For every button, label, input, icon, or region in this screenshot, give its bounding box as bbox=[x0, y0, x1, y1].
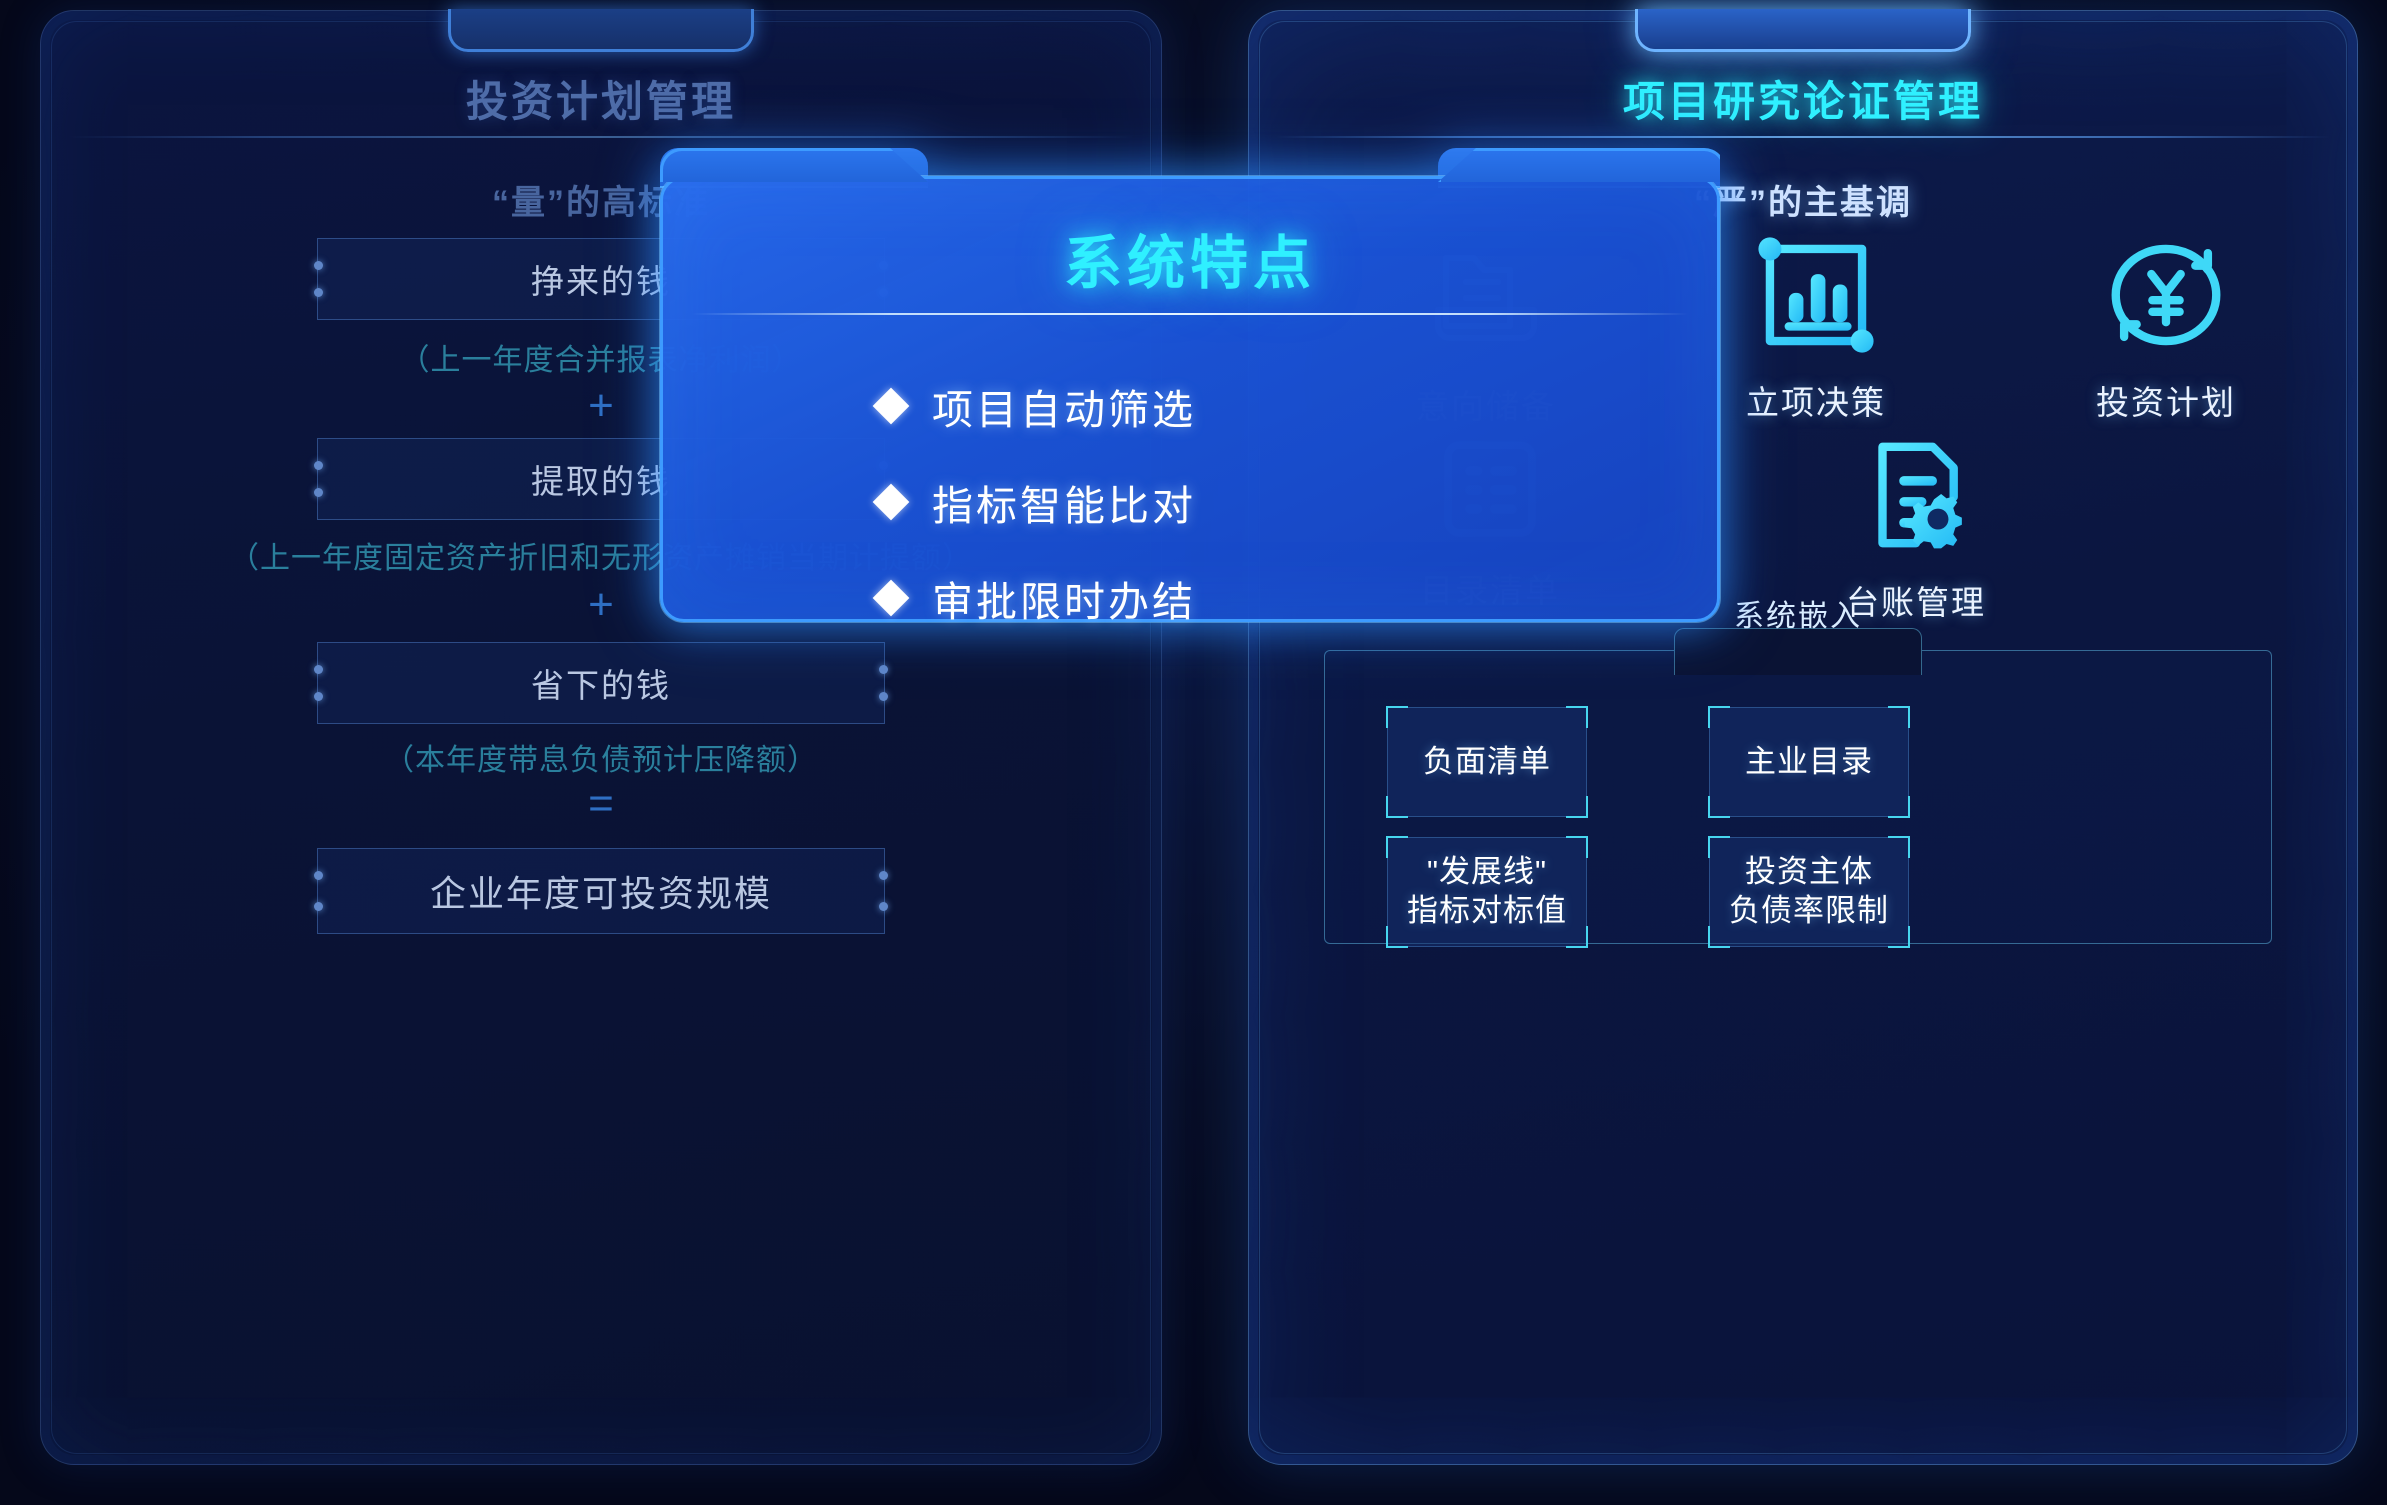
embed-cell[interactable]: 主业目录 bbox=[1709, 707, 1909, 817]
embed-cell[interactable]: "发展线" 指标对标值 bbox=[1387, 837, 1587, 947]
flow-box[interactable]: 省下的钱 bbox=[317, 642, 885, 724]
embed-cell[interactable]: 负面清单 bbox=[1387, 707, 1587, 817]
panel-top-notch bbox=[1635, 9, 1971, 52]
flow-note: （本年度带息负债预计压降额） bbox=[40, 735, 1162, 779]
list-item[interactable]: 项目自动筛选 bbox=[878, 376, 1196, 436]
list-item-label: 指标智能比对 bbox=[932, 472, 1196, 532]
flow-result-label: 企业年度可投资规模 bbox=[430, 865, 772, 917]
yuan-refresh-icon bbox=[2016, 228, 2316, 362]
system-embed-section: 系统嵌入 负面清单 主业目录 "发展线" 指标对标值 投资主体 负债率限制 bbox=[1324, 650, 2272, 944]
flow-box-label: 提取的钱 bbox=[531, 455, 671, 503]
flow-box-label: 挣来的钱 bbox=[531, 255, 671, 303]
page-title-right: 项目研究论证管理 bbox=[1248, 68, 2358, 129]
modal-title: 系统特点 bbox=[660, 216, 1720, 300]
slide-canvas: 投资计划管理 “量”的高标准 挣来的钱 （上一年度合并报表净利润） + 提取的钱… bbox=[0, 0, 2387, 1505]
flow-result-box[interactable]: 企业年度可投资规模 bbox=[317, 848, 885, 934]
document-gear-icon bbox=[1766, 428, 2066, 562]
diamond-bullet-icon bbox=[873, 580, 910, 617]
flow-operator: = bbox=[40, 782, 1162, 826]
feature-investment-plan[interactable]: 投资计划 bbox=[2016, 228, 2316, 424]
modal-feature-list: 项目自动筛选 指标智能比对 审批限时办结 bbox=[878, 376, 1196, 628]
modal-tab-left-shape bbox=[660, 148, 934, 185]
embed-cell[interactable]: 投资主体 负债率限制 bbox=[1709, 837, 1909, 947]
diamond-bullet-icon bbox=[873, 484, 910, 521]
list-item[interactable]: 指标智能比对 bbox=[878, 472, 1196, 532]
system-features-modal: 系统特点 项目自动筛选 指标智能比对 审批限时办结 bbox=[660, 148, 1720, 622]
list-item-label: 审批限时办结 bbox=[932, 568, 1196, 628]
modal-divider bbox=[692, 313, 1688, 315]
page-title-left: 投资计划管理 bbox=[40, 68, 1162, 129]
flow-box-label: 省下的钱 bbox=[531, 659, 671, 707]
modal-tab-right-shape bbox=[1438, 148, 1726, 185]
panel-top-notch bbox=[448, 9, 754, 52]
feature-label: 投资计划 bbox=[2016, 376, 2316, 424]
title-divider-left bbox=[68, 136, 1134, 138]
list-item-label: 项目自动筛选 bbox=[932, 376, 1196, 436]
list-item[interactable]: 审批限时办结 bbox=[878, 568, 1196, 628]
diamond-bullet-icon bbox=[873, 388, 910, 425]
title-divider-right bbox=[1276, 136, 2330, 138]
